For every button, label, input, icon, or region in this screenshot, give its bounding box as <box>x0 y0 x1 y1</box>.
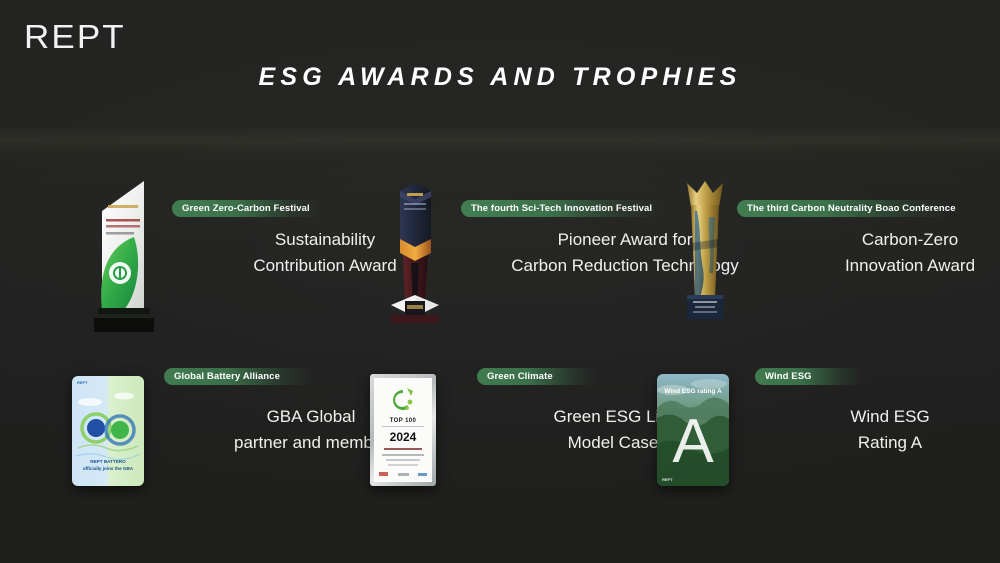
wind-card-logo: REPT <box>662 477 673 482</box>
award-badge-label: The fourth Sci-Tech Innovation Festival <box>471 203 652 214</box>
award-badge-label: Green Climate <box>487 371 553 382</box>
framed-certificate-icon: TOP 100 2024 <box>355 368 451 486</box>
award-title-line-1: Wind ESG <box>725 404 1000 430</box>
award-title-line-2: Innovation Award <box>745 253 1000 279</box>
award-badge-label: Green Zero-Carbon Festival <box>182 203 310 214</box>
award-caption: Wind ESG Rating A <box>725 404 1000 456</box>
awards-row-1: Green Zero-Carbon Festival Sustainabilit… <box>0 175 1000 345</box>
award-item-green-esg-list-model-case[interactable]: TOP 100 2024 Green Climate <box>355 362 695 532</box>
award-badge: The fourth Sci-Tech Innovation Festival <box>461 200 662 217</box>
award-badge: Global Battery Alliance <box>164 368 314 385</box>
award-badge: The third Carbon Neutrality Boao Confere… <box>737 200 952 217</box>
award-badge: Green Climate <box>477 368 597 385</box>
gba-card-line-2: officially joins the GBA <box>72 465 144 472</box>
award-item-sustainability-contribution-award[interactable]: Green Zero-Carbon Festival Sustainabilit… <box>60 175 390 345</box>
award-badge: Green Zero-Carbon Festival <box>172 200 322 217</box>
award-title-line-2: Rating A <box>725 430 1000 456</box>
svg-text:A: A <box>672 407 714 476</box>
award-item-pioneer-award-carbon-reduction[interactable]: The fourth Sci-Tech Innovation Festival … <box>355 175 695 345</box>
award-item-carbon-zero-innovation-award[interactable]: The third Carbon Neutrality Boao Confere… <box>645 175 975 345</box>
award-badge-label: Wind ESG <box>765 371 812 382</box>
award-badge: Wind ESG <box>755 368 863 385</box>
award-title-line-1: Carbon-Zero <box>745 227 1000 253</box>
brand-logo: REPT <box>24 20 126 53</box>
slide-canvas: REPT ESG AWARDS AND TROPHIES <box>0 0 1000 563</box>
page-title: ESG AWARDS AND TROPHIES <box>0 63 1000 92</box>
award-item-gba-global-partner-and-member[interactable]: REPT REPT BATTERO officially joins the <box>60 362 390 532</box>
certificate-year: 2024 <box>374 430 432 444</box>
awards-row-2: REPT REPT BATTERO officially joins the <box>0 362 1000 532</box>
gba-card-line-1: REPT BATTERO <box>72 458 144 465</box>
gba-membership-card-icon: REPT REPT BATTERO officially joins the <box>60 368 156 486</box>
award-caption: Carbon-Zero Innovation Award <box>745 227 1000 279</box>
award-item-wind-esg-rating-a[interactable]: A Wind ESG rating A REPT Wind ESG Wind E… <box>645 362 975 532</box>
wind-card-title: Wind ESG rating A <box>657 388 729 395</box>
certificate-heading: TOP 100 <box>374 418 432 424</box>
award-badge-label: Global Battery Alliance <box>174 371 280 382</box>
award-badge-label: The third Carbon Neutrality Boao Confere… <box>747 203 956 214</box>
